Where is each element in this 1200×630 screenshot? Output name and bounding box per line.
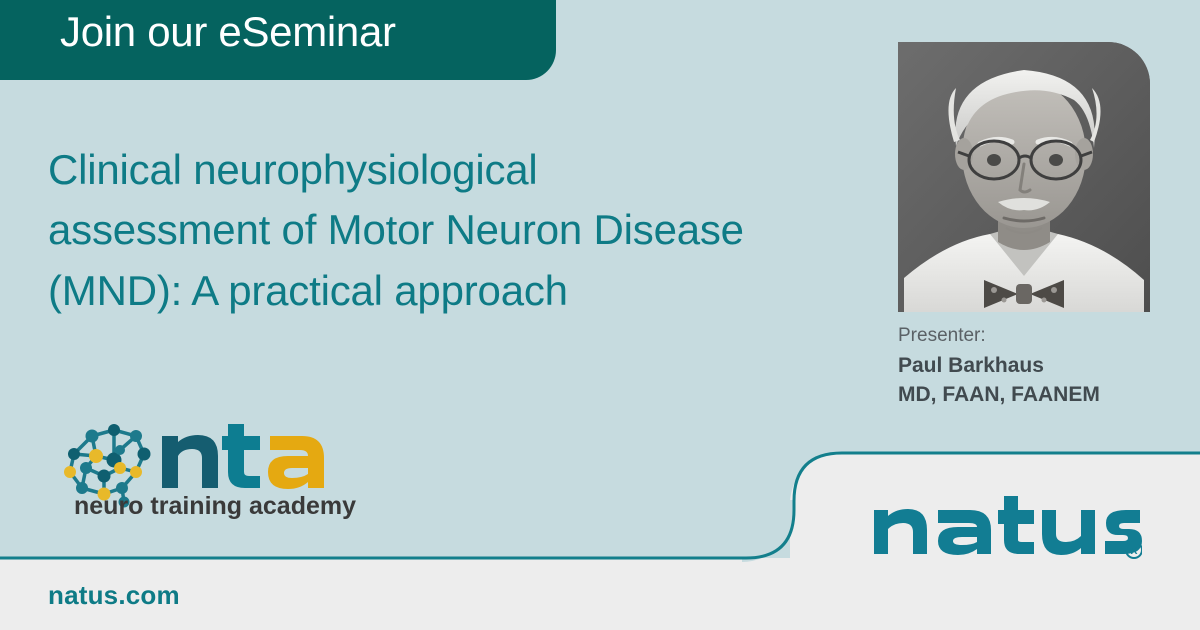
svg-text:R: R: [1130, 546, 1138, 557]
presenter-credentials: MD, FAAN, FAANEM: [898, 380, 1168, 410]
presenter-info: Presenter: Paul Barkhaus MD, FAAN, FAANE…: [898, 322, 1168, 410]
promotional-banner: Join our eSeminar Clinical neurophysiolo…: [0, 0, 1200, 630]
nta-wordmark-n: [162, 435, 218, 488]
presenter-label: Presenter:: [898, 322, 1168, 351]
title-line-1: Clinical neurophysiological: [48, 140, 878, 200]
header-tab: Join our eSeminar: [0, 0, 556, 80]
natus-wordmark: [874, 496, 1142, 555]
natus-logo: R: [872, 488, 1142, 562]
title-line-2: assessment of Motor Neuron Disease: [48, 200, 878, 260]
nta-tagline: neuro training academy: [74, 492, 356, 520]
nta-wordmark-t: [222, 424, 260, 488]
title-line-3: (MND): A practical approach: [48, 261, 878, 321]
presenter-name: Paul Barkhaus: [898, 351, 1168, 381]
page-title: Clinical neurophysiological assessment o…: [48, 140, 878, 321]
site-url[interactable]: natus.com: [48, 580, 180, 611]
presenter-photo: [898, 42, 1150, 312]
nta-wordmark-a: [268, 436, 324, 489]
nta-logo: neuro training academy: [52, 410, 362, 522]
header-tab-label: Join our eSeminar: [60, 8, 396, 56]
